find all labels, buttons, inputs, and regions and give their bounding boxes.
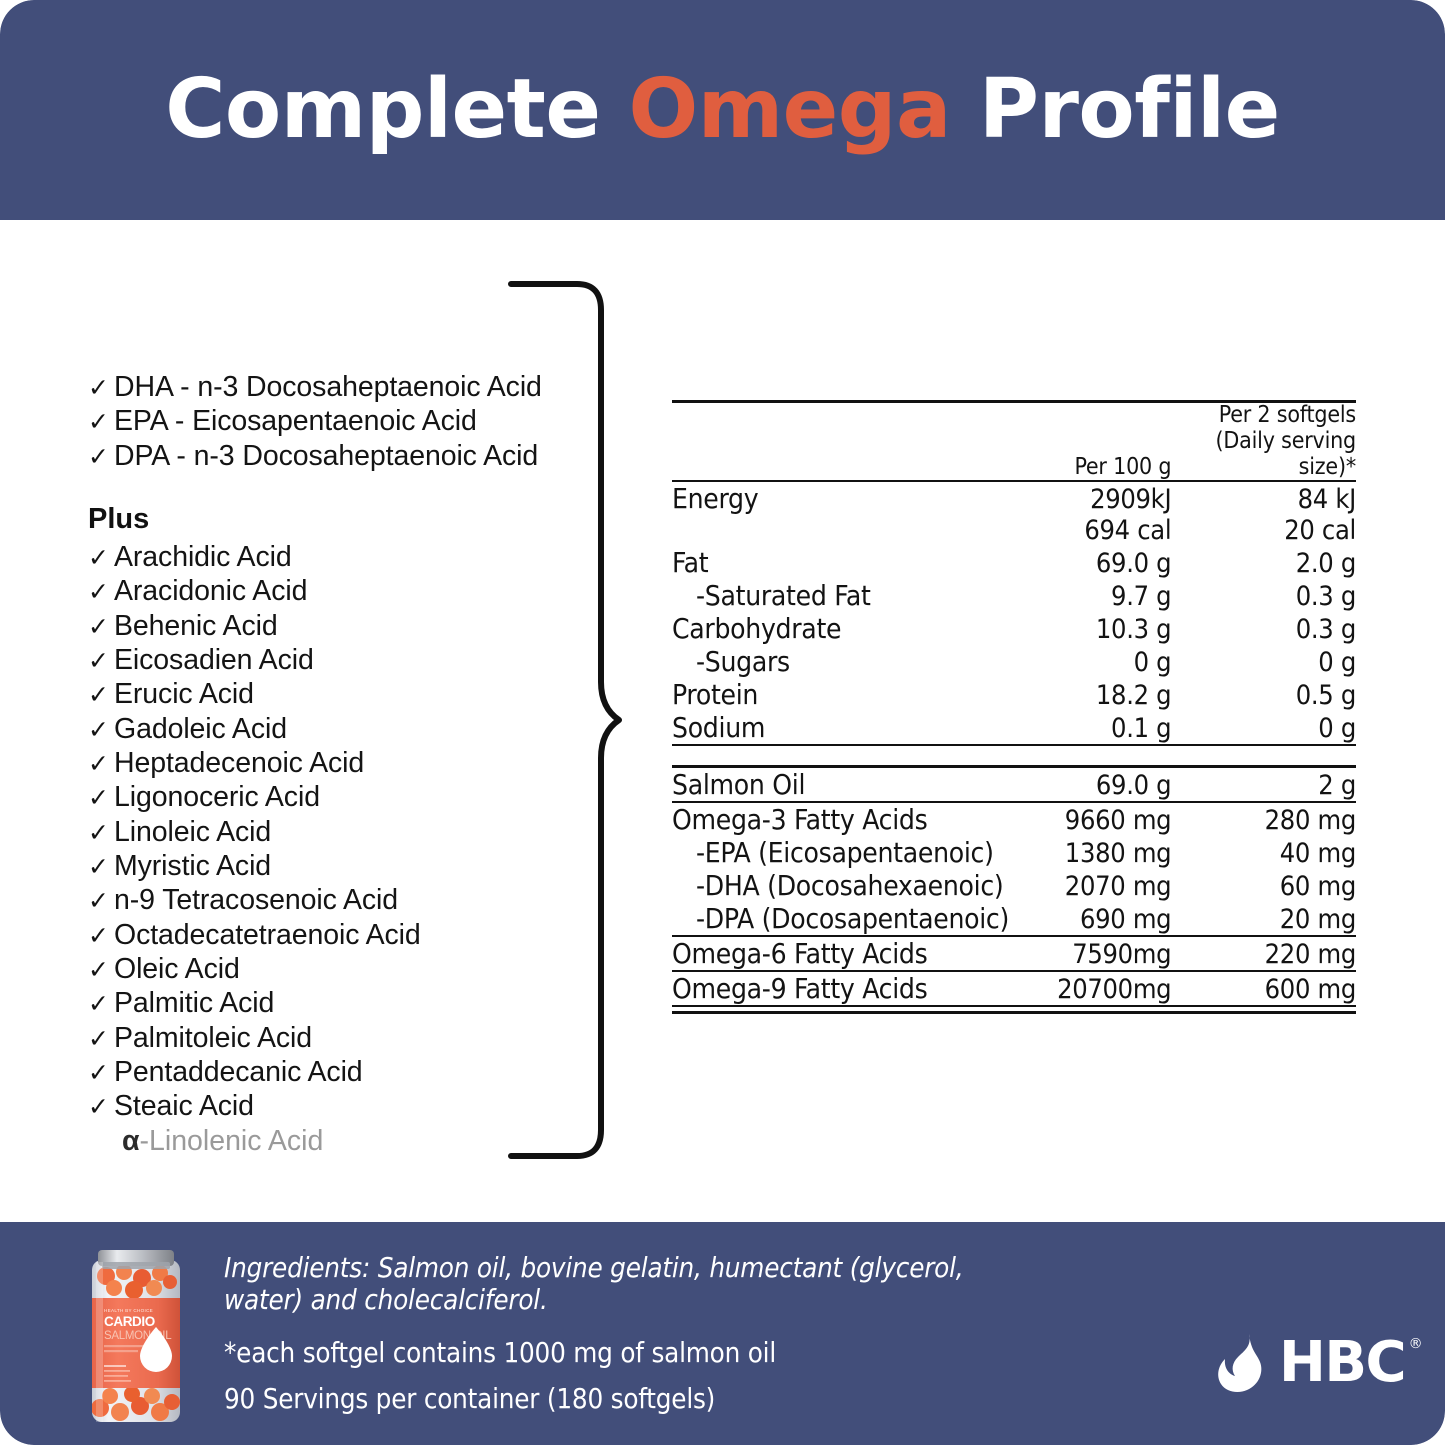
check-icon: ✓	[88, 373, 114, 403]
list-item: ✓Palmitoleic Acid	[88, 1021, 558, 1055]
curly-brace-icon	[505, 278, 635, 1162]
list-item-label: Erucic Acid	[114, 677, 254, 711]
row-value-per-2-softgels: 0.3 g	[1171, 579, 1356, 612]
row-label: -DHA (Docosahexaenoic)	[672, 869, 1014, 902]
row-value-per-2-softgels: 600 mg	[1171, 971, 1356, 1006]
check-icon: ✓	[88, 543, 114, 573]
list-item: ✓Pentaddecanic Acid	[88, 1055, 558, 1089]
row-value-per-100g: 20700mg	[1014, 971, 1171, 1006]
list-item-label: n-9 Tetracosenoic Acid	[114, 883, 398, 917]
row-value-per-100g: 69.0 g	[1014, 546, 1171, 579]
list-item: ✓EPA - Eicosapentaenoic Acid	[88, 404, 558, 438]
check-icon: ✓	[88, 577, 114, 607]
spacer-body	[672, 745, 1356, 767]
check-icon: ✓	[88, 852, 114, 882]
hbc-brand-text: HBC	[1279, 1330, 1405, 1395]
check-icon: ✓	[88, 407, 114, 437]
row-value-per-100g: 9.7 g	[1014, 579, 1171, 612]
page-title: Complete Omega Profile	[165, 69, 1279, 151]
list-item: ✓Gadoleic Acid	[88, 712, 558, 746]
table-row: -Saturated Fat9.7 g0.3 g	[672, 579, 1356, 612]
row-value-per-2-softgels: 280 mg	[1171, 802, 1356, 836]
row-label: -Sugars	[672, 645, 1014, 678]
list-item: ✓DHA - n-3 Docosaheptaenoic Acid	[88, 370, 558, 404]
check-icon: ✓	[88, 1058, 114, 1088]
row-value-per-100g: 18.2 g	[1014, 678, 1171, 711]
row-value-per-100g: 694 cal	[1014, 515, 1171, 546]
table-row: Omega-6 Fatty Acids7590mg220 mg	[672, 936, 1356, 971]
row-value-per-100g: 10.3 g	[1014, 612, 1171, 645]
title-part1: Complete	[165, 62, 628, 157]
bottom-rule-cell-b	[672, 1013, 1356, 1015]
row-value-per-2-softgels: 20 mg	[1171, 902, 1356, 936]
list-item-label: Steaic Acid	[114, 1089, 254, 1123]
row-label: Carbohydrate	[672, 612, 1014, 645]
omega3-row-group: Omega-3 Fatty Acids9660 mg280 mg-EPA (Ei…	[672, 802, 1356, 936]
registered-mark: ®	[1409, 1337, 1422, 1351]
list-item: ✓Behenic Acid	[88, 609, 558, 643]
row-value-per-2-softgels: 2 g	[1171, 767, 1356, 803]
list-item: ✓Palmitic Acid	[88, 986, 558, 1020]
list-item: ✓Steaic Acid	[88, 1089, 558, 1123]
row-value-per-2-softgels: 0 g	[1171, 645, 1356, 678]
list-item-label: Heptadecenoic Acid	[114, 746, 364, 780]
header-per-100g: Per 100 g	[1014, 402, 1171, 482]
list-item-label: Ligonoceric Acid	[114, 780, 320, 814]
list-item-label: Oleic Acid	[114, 952, 240, 986]
table-header-row: Per 100 g Per 2 softgels (Daily serving …	[672, 402, 1356, 482]
check-icon: ✓	[88, 749, 114, 779]
row-value-per-100g: 0.1 g	[1014, 711, 1171, 744]
list-item-label: Eicosadien Acid	[114, 643, 314, 677]
bottle-brand-small: HEALTH BY CHOICE	[104, 1308, 153, 1313]
hbc-logo: HBC®	[1216, 1332, 1405, 1394]
check-icon: ✓	[88, 680, 114, 710]
salmon-oil-row-group: Salmon Oil69.0 g2 g	[672, 767, 1356, 803]
footer-text-block: Ingredients: Salmon oil, bovine gelatin,…	[224, 1252, 1004, 1415]
check-icon: ✓	[88, 989, 114, 1019]
row-value-per-2-softgels: 0 g	[1171, 711, 1356, 744]
list-item: ✓Linoleic Acid	[88, 815, 558, 849]
title-part2: Profile	[951, 62, 1280, 157]
omega9-row-group: Omega-9 Fatty Acids20700mg600 mg	[672, 971, 1356, 1006]
list-item: ✓Myristic Acid	[88, 849, 558, 883]
row-label: -Saturated Fat	[672, 579, 1014, 612]
row-label: -DPA (Docosapentaenoic)	[672, 902, 1014, 936]
row-value-per-2-softgels: 60 mg	[1171, 869, 1356, 902]
list-item-alpha-linolenic: α-Linolenic Acid	[88, 1124, 558, 1158]
row-value-per-2-softgels: 40 mg	[1171, 836, 1356, 869]
table-row: -DHA (Docosahexaenoic)2070 mg60 mg	[672, 869, 1356, 902]
check-icon: ✓	[88, 1092, 114, 1122]
table-row: Sodium0.1 g0 g	[672, 711, 1356, 744]
alpha-symbol: α	[122, 1124, 140, 1158]
list-item: ✓DPA - n-3 Docosaheptaenoic Acid	[88, 439, 558, 473]
omega6-row-group: Omega-6 Fatty Acids7590mg220 mg	[672, 936, 1356, 971]
row-label: Energy	[672, 481, 1014, 515]
fatty-acid-checklist: ✓DHA - n-3 Docosaheptaenoic Acid✓EPA - E…	[88, 370, 558, 1158]
nutrition-table: Per 100 g Per 2 softgels (Daily serving …	[672, 400, 1356, 744]
omega-profile-label: Complete Omega Profile ✓DHA - n-3 Docosa…	[0, 0, 1445, 1445]
nutrition-table-oils: Salmon Oil69.0 g2 g Omega-3 Fatty Acids9…	[672, 744, 1356, 1014]
row-label: Omega-9 Fatty Acids	[672, 971, 1014, 1006]
header-per-2-softgels-line2: (Daily serving size)*	[1171, 429, 1356, 481]
row-value-per-2-softgels: 0.5 g	[1171, 678, 1356, 711]
table-row: -EPA (Eicosapentaenoic)1380 mg40 mg	[672, 836, 1356, 869]
header-per-2-softgels: Per 2 softgels (Daily serving size)*	[1171, 402, 1356, 482]
list-item-label: Gadoleic Acid	[114, 712, 287, 746]
header-banner: Complete Omega Profile	[0, 0, 1445, 220]
row-value-per-100g: 7590mg	[1014, 936, 1171, 971]
table-row: Fat69.0 g2.0 g	[672, 546, 1356, 579]
check-icon: ✓	[88, 715, 114, 745]
list-item: ✓Ligonoceric Acid	[88, 780, 558, 814]
row-value-per-100g: 69.0 g	[1014, 767, 1171, 803]
list-item-label: EPA - Eicosapentaenoic Acid	[114, 404, 477, 438]
row-label: Fat	[672, 546, 1014, 579]
table-row: Omega-9 Fatty Acids20700mg600 mg	[672, 971, 1356, 1006]
row-value-per-100g: 690 mg	[1014, 902, 1171, 936]
list-item-label: Palmitoleic Acid	[114, 1021, 312, 1055]
table-bottom-rules	[672, 1006, 1356, 1014]
row-value-per-100g: 2909kJ	[1014, 481, 1171, 515]
header-per-2-softgels-line1: Per 2 softgels	[1171, 403, 1356, 429]
row-value-per-2-softgels: 220 mg	[1171, 936, 1356, 971]
table-row: Salmon Oil69.0 g2 g	[672, 767, 1356, 803]
list-item-label: Behenic Acid	[114, 609, 278, 643]
row-label	[672, 515, 1014, 546]
row-label: Protein	[672, 678, 1014, 711]
list-item: ✓Erucic Acid	[88, 677, 558, 711]
primary-omega-list: ✓DHA - n-3 Docosaheptaenoic Acid✓EPA - E…	[88, 370, 558, 473]
row-value-per-2-softgels: 0.3 g	[1171, 612, 1356, 645]
check-icon: ✓	[88, 783, 114, 813]
row-value-per-100g: 2070 mg	[1014, 869, 1171, 902]
row-label: -EPA (Eicosapentaenoic)	[672, 836, 1014, 869]
hbc-wordmark: HBC®	[1279, 1335, 1405, 1391]
servings-note-text: 90 Servings per container (180 softgels)	[224, 1383, 1004, 1415]
check-icon: ✓	[88, 646, 114, 676]
alpha-linolenic-label: -Linolenic Acid	[140, 1124, 324, 1158]
additional-acids-list: ✓Arachidic Acid✓Aracidonic Acid✓Behenic …	[88, 540, 558, 1124]
nutrition-table-head: Per 100 g Per 2 softgels (Daily serving …	[672, 402, 1356, 482]
table-row: 694 cal20 cal	[672, 515, 1356, 546]
list-item: ✓Aracidonic Acid	[88, 574, 558, 608]
list-item: ✓n-9 Tetracosenoic Acid	[88, 883, 558, 917]
list-item-label: Aracidonic Acid	[114, 574, 307, 608]
list-item: ✓Octadecatetraenoic Acid	[88, 918, 558, 952]
row-value-per-100g: 9660 mg	[1014, 802, 1171, 836]
table-row: Carbohydrate10.3 g0.3 g	[672, 612, 1356, 645]
check-icon: ✓	[88, 1024, 114, 1054]
table-row: Protein18.2 g0.5 g	[672, 678, 1356, 711]
title-accent: Omega	[629, 62, 951, 157]
list-item: ✓Eicosadien Acid	[88, 643, 558, 677]
row-value-per-2-softgels: 2.0 g	[1171, 546, 1356, 579]
check-icon: ✓	[88, 442, 114, 472]
table-row: Energy2909kJ84 kJ	[672, 481, 1356, 515]
list-item-label: Linoleic Acid	[114, 815, 271, 849]
list-item: ✓Arachidic Acid	[88, 540, 558, 574]
list-item-label: Octadecatetraenoic Acid	[114, 918, 421, 952]
ingredients-text: Ingredients: Salmon oil, bovine gelatin,…	[224, 1252, 1004, 1317]
list-item: ✓Heptadecenoic Acid	[88, 746, 558, 780]
row-value-per-100g: 0 g	[1014, 645, 1171, 678]
list-item-label: Myristic Acid	[114, 849, 271, 883]
table-row: -DPA (Docosapentaenoic)690 mg20 mg	[672, 902, 1356, 936]
list-item-label: Pentaddecanic Acid	[114, 1055, 363, 1089]
bottle-product-line1: CARDIO	[104, 1314, 155, 1329]
row-value-per-100g: 1380 mg	[1014, 836, 1171, 869]
gap-cell	[672, 745, 1356, 767]
row-value-per-2-softgels: 20 cal	[1171, 515, 1356, 546]
sodium-bottom-rule	[672, 745, 1356, 767]
softgel-note-text: *each softgel contains 1000 mg of salmon…	[224, 1337, 1004, 1369]
row-label: Sodium	[672, 711, 1014, 744]
list-item: ✓Oleic Acid	[88, 952, 558, 986]
flame-icon	[1216, 1332, 1270, 1394]
header-blank	[672, 402, 1014, 482]
product-bottle-image: HEALTH BY CHOICE CARDIO SALMON OIL	[80, 1232, 192, 1432]
check-icon: ✓	[88, 818, 114, 848]
list-item-label: Arachidic Acid	[114, 540, 292, 574]
check-icon: ✓	[88, 955, 114, 985]
list-item-label: DHA - n-3 Docosaheptaenoic Acid	[114, 370, 542, 404]
table-row: Omega-3 Fatty Acids9660 mg280 mg	[672, 802, 1356, 836]
row-value-per-2-softgels: 84 kJ	[1171, 481, 1356, 515]
list-item-label: Palmitic Acid	[114, 986, 274, 1020]
list-item-label: DPA - n-3 Docosaheptaenoic Acid	[114, 439, 538, 473]
row-label: Omega-6 Fatty Acids	[672, 936, 1014, 971]
check-icon: ✓	[88, 612, 114, 642]
nutrition-table-container: Per 100 g Per 2 softgels (Daily serving …	[672, 400, 1356, 1014]
row-label: Salmon Oil	[672, 767, 1014, 803]
bottom-rule-thick	[672, 1013, 1356, 1015]
check-icon: ✓	[88, 921, 114, 951]
table-row: -Sugars0 g0 g	[672, 645, 1356, 678]
row-label: Omega-3 Fatty Acids	[672, 802, 1014, 836]
nutrition-basic-rows: Energy2909kJ84 kJ694 cal20 calFat69.0 g2…	[672, 481, 1356, 744]
plus-heading: Plus	[88, 503, 558, 536]
check-icon: ✓	[88, 886, 114, 916]
